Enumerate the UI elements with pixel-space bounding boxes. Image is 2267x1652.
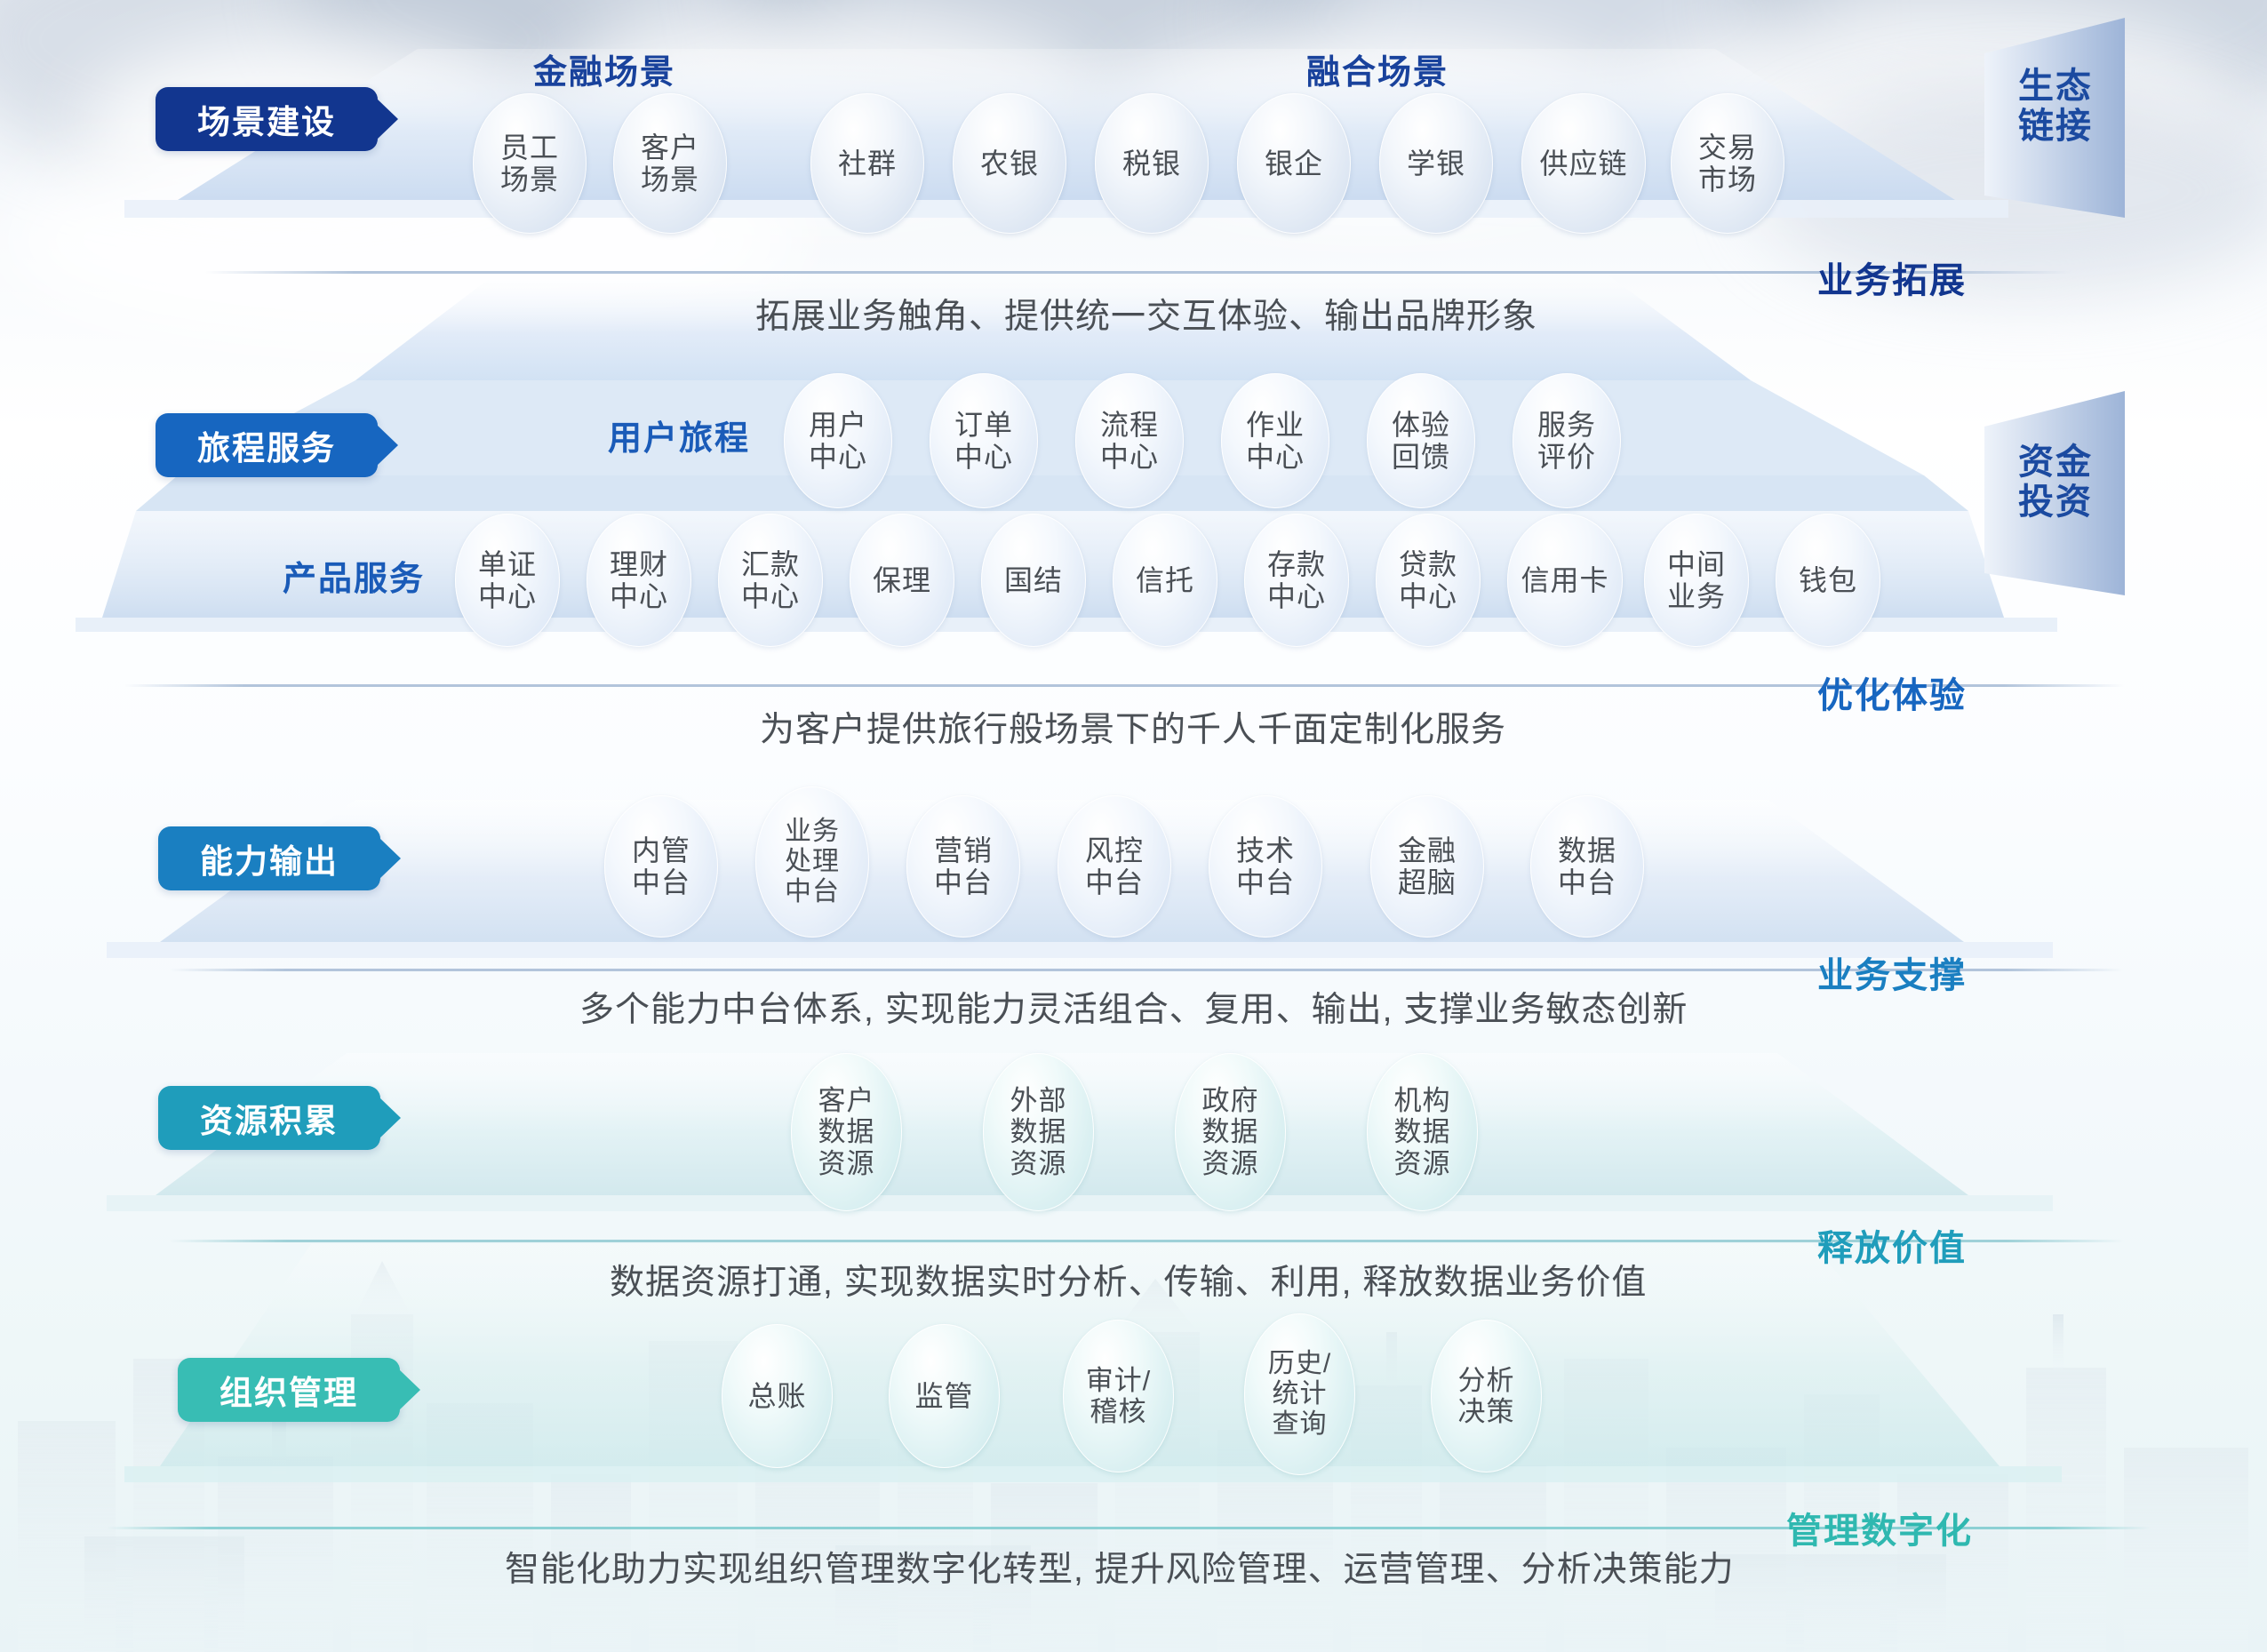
node-line: 资源 <box>1010 1148 1067 1179</box>
row-label-product-service: 产品服务 <box>283 551 425 600</box>
node-line: 银企 <box>1265 148 1323 180</box>
node-line: 业务 <box>785 817 840 847</box>
node-product-trust[interactable]: 信托 <box>1113 514 1217 647</box>
tier-pill-scene-label: 场景建设 <box>197 95 336 143</box>
node-line: 体验 <box>1392 409 1450 441</box>
node-line: 超脑 <box>1398 866 1457 898</box>
ribbon-ecosystem-line2: 链接 <box>1967 107 2144 147</box>
node-product-wealth-center[interactable]: 理财中心 <box>587 514 691 647</box>
tier-pill-capability-label: 能力输出 <box>200 834 339 882</box>
edge-tag-management-digitalization: 管理数字化 <box>1786 1502 1973 1553</box>
node-line: 中心 <box>478 580 537 612</box>
node-resource-customer-data[interactable]: 客户数据资源 <box>791 1053 902 1211</box>
node-line: 钱包 <box>1799 564 1857 596</box>
node-line: 存款 <box>1267 548 1326 580</box>
node-line: 中心 <box>1246 441 1305 473</box>
ribbon-funding-line1: 资金 <box>1967 443 2144 483</box>
node-line: 贷款 <box>1399 548 1457 580</box>
node-line: 中心 <box>809 441 867 473</box>
node-product-document-center[interactable]: 单证中心 <box>455 514 560 647</box>
caption-resource: 数据资源打通, 实现数据实时分析、传输、利用, 释放数据业务价值 <box>610 1255 1647 1305</box>
side-ribbon-ecosystem: 生态 链接 <box>1967 18 2144 218</box>
node-line: 资源 <box>1394 1148 1451 1179</box>
node-line: 业务 <box>1667 580 1726 612</box>
node-line: 政府 <box>1202 1085 1259 1116</box>
node-line: 服务 <box>1537 409 1596 441</box>
node-line: 资源 <box>1202 1148 1259 1179</box>
divider-scene <box>204 271 2071 274</box>
node-line: 供应链 <box>1539 148 1627 180</box>
node-scene-bank-enterprise[interactable]: 银企 <box>1237 93 1351 234</box>
node-line: 用户 <box>809 409 867 441</box>
node-capability-data[interactable]: 数据中台 <box>1530 795 1644 938</box>
node-line: 汇款 <box>741 548 800 580</box>
node-capability-technology[interactable]: 技术中台 <box>1209 795 1322 938</box>
node-line: 客户 <box>818 1085 875 1116</box>
node-line: 评价 <box>1537 441 1596 473</box>
node-line: 市场 <box>1698 164 1757 196</box>
node-line: 客户 <box>641 132 699 164</box>
node-journey-user-center[interactable]: 用户中心 <box>784 373 892 508</box>
node-line: 税银 <box>1122 148 1181 180</box>
node-line: 农银 <box>980 148 1039 180</box>
node-line: 中台 <box>1236 866 1295 898</box>
ribbon-funding-line2: 投资 <box>1967 483 2144 523</box>
pill-arrow-icon <box>379 838 401 879</box>
node-line: 技术 <box>1236 834 1295 866</box>
ribbon-ecosystem-line1: 生态 <box>1967 67 2144 107</box>
node-scene-community[interactable]: 社群 <box>810 93 924 234</box>
tier-pill-organization-label: 组织管理 <box>220 1366 358 1414</box>
node-line: 场景 <box>500 164 559 196</box>
node-line: 中心 <box>1100 441 1159 473</box>
node-line: 理财 <box>610 548 668 580</box>
node-capability-financial-brain[interactable]: 金融超脑 <box>1370 795 1484 938</box>
node-line: 保理 <box>873 564 931 596</box>
node-journey-process-center[interactable]: 流程中心 <box>1075 373 1184 508</box>
pill-arrow-icon <box>377 99 398 140</box>
tier-pill-journey[interactable]: 旅程服务 <box>156 413 378 477</box>
node-line: 统计 <box>1268 1379 1331 1409</box>
node-line: 数据 <box>1202 1116 1259 1147</box>
edge-tag-business-support: 业务支撑 <box>1817 946 1967 998</box>
node-line: 回馈 <box>1392 441 1450 473</box>
node-line: 中心 <box>610 580 668 612</box>
caption-capability: 多个能力中台体系, 实现能力灵活组合、复用、输出, 支撑业务敏态创新 <box>579 982 1688 1032</box>
node-org-general-ledger[interactable]: 总账 <box>722 1324 833 1468</box>
node-org-history-statistics-query[interactable]: 历史/统计查询 <box>1244 1313 1355 1475</box>
node-line: 营销 <box>934 834 993 866</box>
node-line: 稽核 <box>1086 1396 1152 1427</box>
node-line: 处理 <box>785 847 840 877</box>
node-line: 交易 <box>1698 132 1757 164</box>
node-journey-service-rating[interactable]: 服务评价 <box>1513 373 1621 508</box>
node-capability-internal-mgmt[interactable]: 内管中台 <box>604 795 718 938</box>
tier-pill-organization[interactable]: 组织管理 <box>178 1358 400 1422</box>
node-capability-marketing[interactable]: 营销中台 <box>906 795 1020 938</box>
node-product-intl-settlement[interactable]: 国结 <box>981 514 1086 647</box>
node-scene-trading-market[interactable]: 交易市场 <box>1671 93 1784 234</box>
node-line: 外部 <box>1010 1085 1067 1116</box>
node-capability-business-process[interactable]: 业务处理中台 <box>755 786 869 938</box>
node-product-factoring[interactable]: 保理 <box>850 514 954 647</box>
node-line: 中台 <box>1558 866 1616 898</box>
node-line: 单证 <box>478 548 537 580</box>
node-product-deposit-center[interactable]: 存款中心 <box>1244 514 1349 647</box>
edge-tag-release-value: 释放价值 <box>1817 1219 1967 1271</box>
node-line: 场景 <box>641 164 699 196</box>
node-line: 内管 <box>632 834 690 866</box>
node-line: 信用卡 <box>1521 564 1608 596</box>
node-line: 中心 <box>954 441 1013 473</box>
node-scene-tax-bank[interactable]: 税银 <box>1095 93 1209 234</box>
node-line: 员工 <box>500 132 559 164</box>
node-resource-institution-data[interactable]: 机构数据资源 <box>1367 1053 1478 1211</box>
node-line: 机构 <box>1394 1085 1451 1116</box>
edge-tag-optimize-experience: 优化体验 <box>1817 666 1967 718</box>
node-line: 风控 <box>1085 834 1144 866</box>
node-line: 数据 <box>1394 1116 1451 1147</box>
node-journey-experience-feedback[interactable]: 体验回馈 <box>1367 373 1475 508</box>
tier-pill-resource[interactable]: 资源积累 <box>158 1086 380 1150</box>
caption-scene: 拓展业务触角、提供统一交互体验、输出品牌形象 <box>755 289 1537 339</box>
node-line: 审计/ <box>1086 1365 1152 1396</box>
node-resource-government-data[interactable]: 政府数据资源 <box>1175 1053 1286 1211</box>
group-head-financial-scene: 金融场景 <box>533 44 675 93</box>
node-line: 决策 <box>1458 1396 1515 1427</box>
node-product-credit-card[interactable]: 信用卡 <box>1507 514 1623 647</box>
node-scene-supply-chain[interactable]: 供应链 <box>1521 93 1646 234</box>
node-scene-customer[interactable]: 客户场景 <box>613 93 727 234</box>
node-line: 查询 <box>1268 1409 1331 1440</box>
node-line: 历史/ <box>1268 1349 1331 1379</box>
pill-arrow-icon <box>399 1369 420 1410</box>
node-org-supervision[interactable]: 监管 <box>889 1324 1000 1468</box>
node-org-analysis-decision[interactable]: 分析决策 <box>1431 1320 1542 1472</box>
node-line: 监管 <box>914 1380 973 1412</box>
node-line: 中心 <box>1267 580 1326 612</box>
node-line: 学银 <box>1407 148 1465 180</box>
tier-pill-resource-label: 资源积累 <box>200 1094 339 1142</box>
architecture-diagram: 生态 链接 资金 投资 场景建设 金融场景 融合场景 员工场景 客户场景 <box>0 0 2267 1652</box>
node-product-intermediary[interactable]: 中间业务 <box>1644 514 1749 647</box>
node-line: 中心 <box>1399 580 1457 612</box>
caption-organization: 智能化助力实现组织管理数字化转型, 提升风险管理、运营管理、分析决策能力 <box>505 1542 1735 1592</box>
node-org-audit[interactable]: 审计/稽核 <box>1063 1320 1174 1472</box>
node-product-wallet[interactable]: 钱包 <box>1776 514 1880 647</box>
node-line: 中台 <box>934 866 993 898</box>
tier-pill-capability[interactable]: 能力输出 <box>158 826 380 890</box>
node-line: 社群 <box>838 148 897 180</box>
node-product-loan-center[interactable]: 贷款中心 <box>1376 514 1481 647</box>
row-label-user-journey: 用户旅程 <box>608 411 750 459</box>
tier-step-journey-lower <box>76 475 2057 515</box>
node-line: 资源 <box>818 1148 875 1179</box>
tier-pill-journey-label: 旅程服务 <box>197 421 336 469</box>
node-journey-operation-center[interactable]: 作业中心 <box>1221 373 1329 508</box>
edge-tag-business-expansion: 业务拓展 <box>1817 251 1967 303</box>
node-line: 信托 <box>1136 564 1194 596</box>
node-resource-external-data[interactable]: 外部数据资源 <box>983 1053 1094 1211</box>
node-line: 订单 <box>954 409 1013 441</box>
pill-arrow-icon <box>377 425 398 466</box>
node-scene-agri-bank[interactable]: 农银 <box>953 93 1066 234</box>
tier-pill-scene[interactable]: 场景建设 <box>156 87 378 151</box>
node-scene-school-bank[interactable]: 学银 <box>1379 93 1493 234</box>
caption-journey: 为客户提供旅行般场景下的千人千面定制化服务 <box>760 702 1506 752</box>
node-line: 分析 <box>1458 1365 1515 1396</box>
node-line: 流程 <box>1100 409 1159 441</box>
node-line: 作业 <box>1246 409 1305 441</box>
node-line: 数据 <box>818 1116 875 1147</box>
node-line: 中台 <box>785 877 840 907</box>
group-head-fusion-scene: 融合场景 <box>1306 44 1449 93</box>
node-line: 总账 <box>747 1380 806 1412</box>
node-line: 中台 <box>1085 866 1144 898</box>
pill-arrow-icon <box>379 1097 401 1138</box>
node-product-remittance-center[interactable]: 汇款中心 <box>718 514 823 647</box>
node-line: 数据 <box>1558 834 1616 866</box>
node-line: 中心 <box>741 580 800 612</box>
node-line: 数据 <box>1010 1116 1067 1147</box>
node-capability-risk-control[interactable]: 风控中台 <box>1058 795 1171 938</box>
node-journey-order-center[interactable]: 订单中心 <box>930 373 1038 508</box>
node-line: 国结 <box>1004 564 1063 596</box>
node-line: 中间 <box>1667 548 1726 580</box>
node-line: 金融 <box>1398 834 1457 866</box>
node-line: 中台 <box>632 866 690 898</box>
node-scene-employee[interactable]: 员工场景 <box>473 93 587 234</box>
side-ribbon-funding: 资金 投资 <box>1967 391 2144 595</box>
